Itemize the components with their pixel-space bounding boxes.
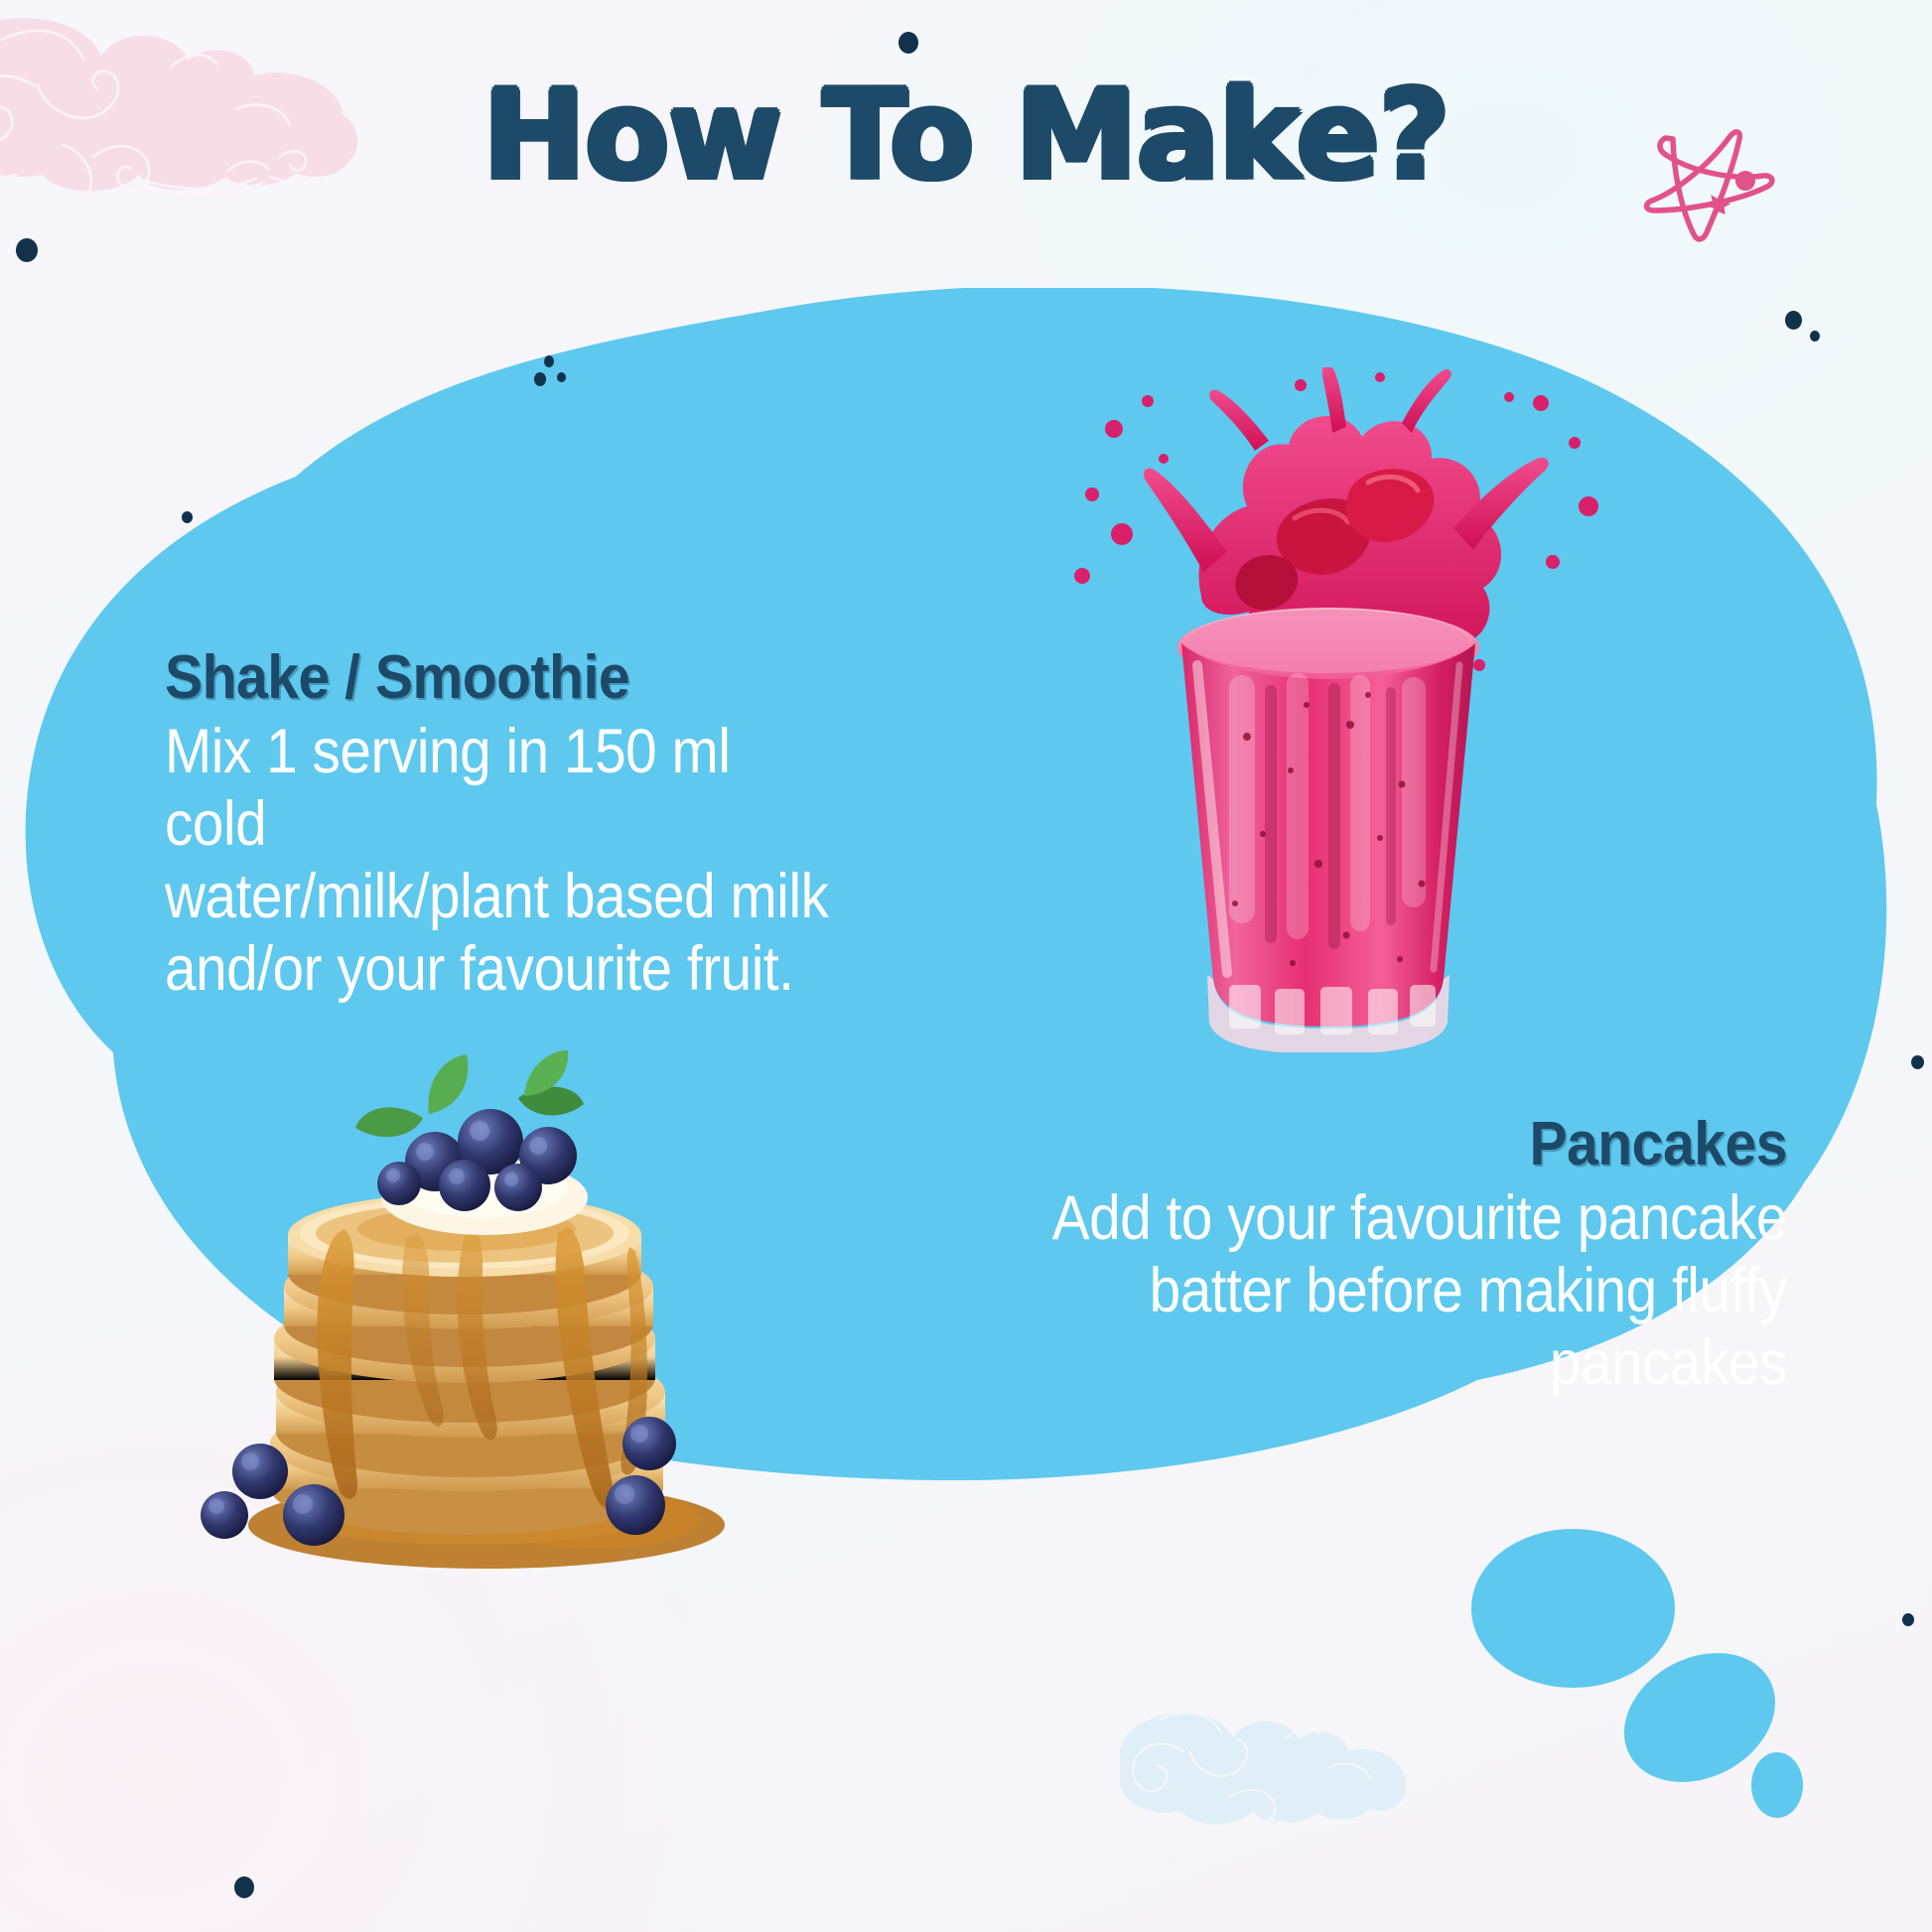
speckle-dot [557, 372, 566, 382]
poster-canvas: How To Make? [0, 0, 1932, 1932]
speckle-dot [544, 355, 554, 367]
page-title: How To Make? [0, 73, 1932, 197]
speckle-dot [1810, 331, 1820, 342]
speckle-dot [234, 1876, 254, 1898]
strawberry-smoothie-splash-photo [1052, 367, 1608, 1052]
speckle-dot [182, 511, 193, 523]
section-heading-shake: Shake / Smoothie [165, 645, 859, 710]
section-body-pancakes: Add to your favourite pancakebatter befo… [759, 1182, 1787, 1400]
bubble-large [1471, 1529, 1675, 1688]
section-heading-pancakes: Pancakes [737, 1112, 1787, 1176]
swirl-cloud-icon [1120, 1694, 1408, 1843]
speckle-dot [534, 372, 546, 386]
bubble-small [1751, 1752, 1803, 1818]
speckle-dot [898, 32, 918, 54]
speckle-dot [1911, 1055, 1924, 1069]
speckle-dot [16, 238, 38, 262]
speckle-dot [1902, 1613, 1914, 1626]
section-body-shake: Mix 1 serving in 150 ml coldwater/milk/p… [165, 716, 844, 1006]
small-star-icon [1708, 194, 1730, 216]
speckle-dot [1785, 311, 1802, 330]
section-shake-smoothie: Shake / Smoothie Mix 1 serving in 150 ml… [165, 645, 919, 1006]
section-pancakes: Pancakes Add to your favourite pancakeba… [645, 1112, 1787, 1400]
